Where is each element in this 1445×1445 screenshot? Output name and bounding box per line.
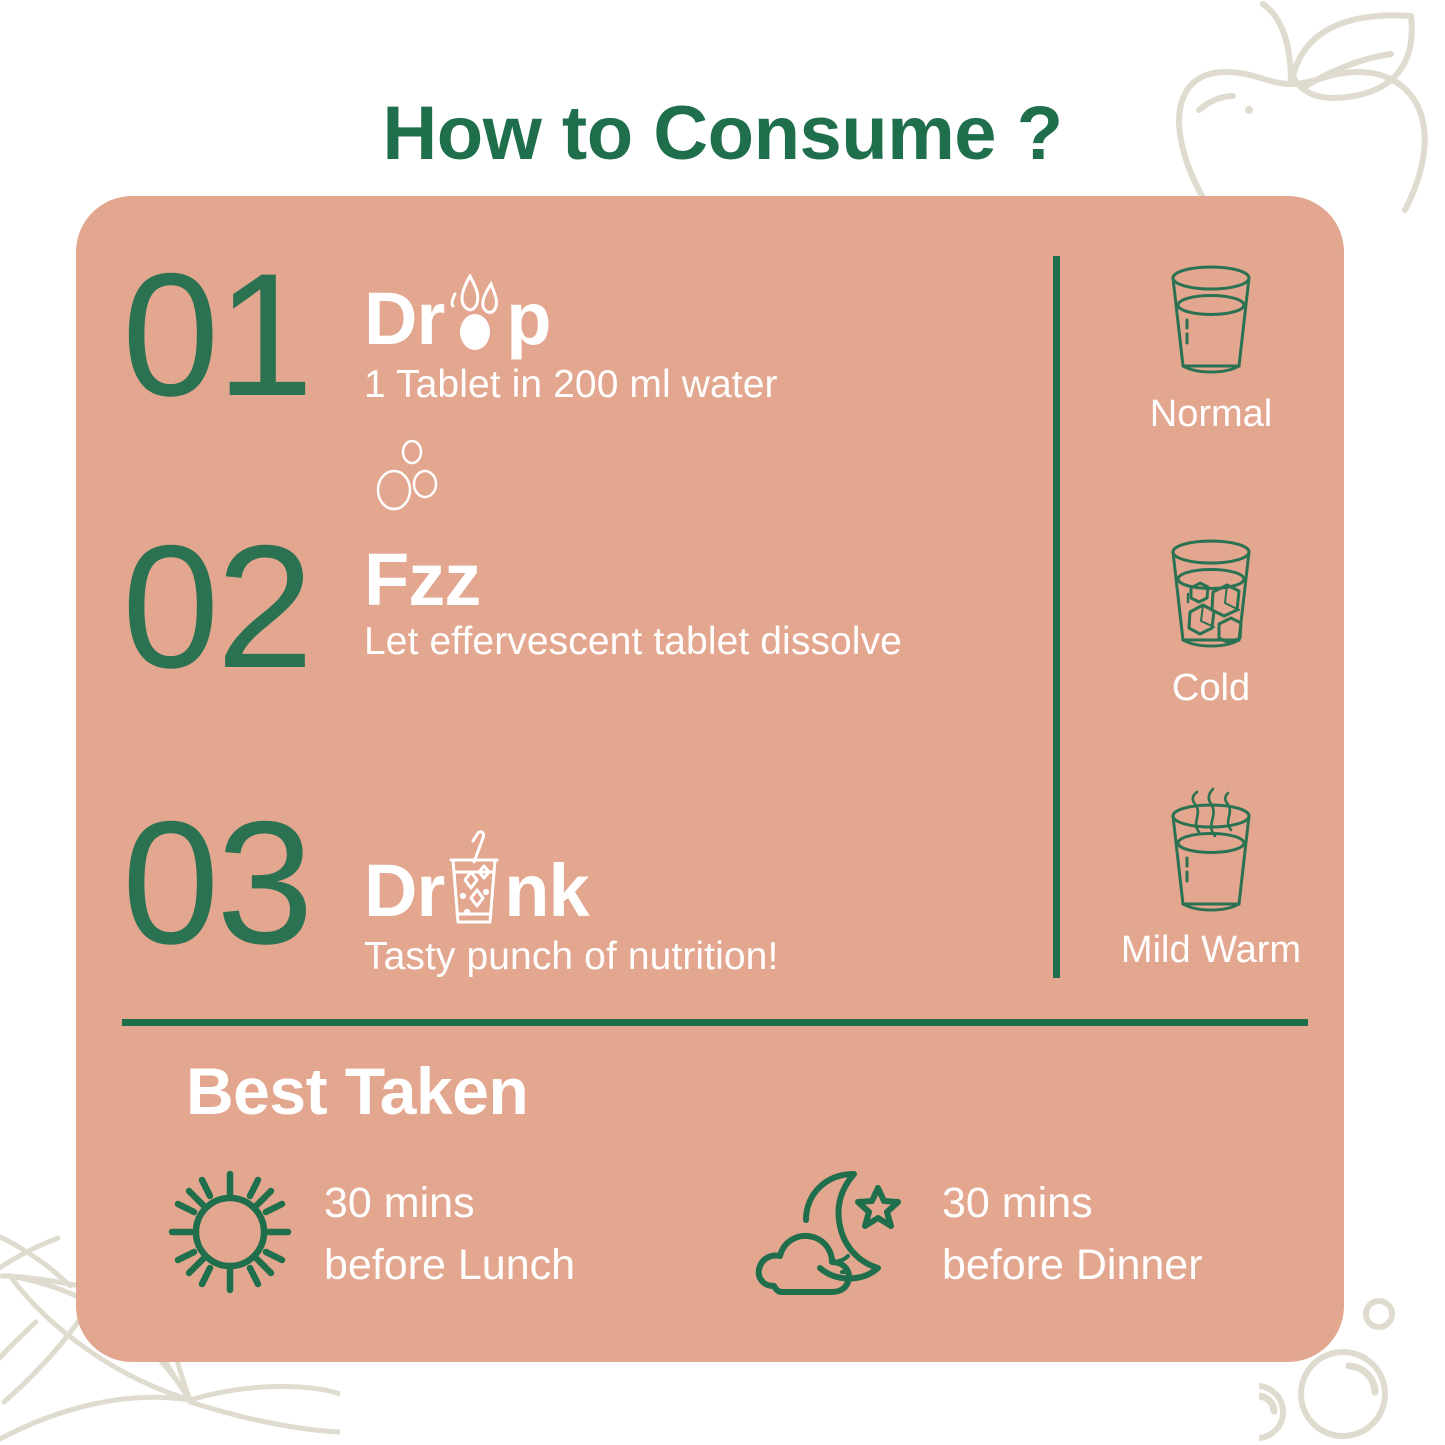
- glass-of-water-icon: [1086, 256, 1336, 382]
- timing-item-dinner: 30 mins before Dinner: [736, 1164, 1316, 1305]
- water-drop-icon: [444, 264, 506, 356]
- timing-text: 30 mins before Lunch: [324, 1173, 575, 1295]
- step-headline-before: Dr: [364, 277, 444, 360]
- step-body: Fzz Let effervescent tablet dissolve: [364, 522, 1052, 665]
- step-headline-after: p: [506, 277, 550, 360]
- temperature-item-mild-warm: Mild Warm: [1086, 792, 1336, 972]
- drink-glass-straw-icon: [444, 812, 504, 928]
- step-headline-before: F: [364, 538, 408, 621]
- glass-with-ice-icon: [1086, 530, 1336, 656]
- step-body: Drnk Tasty punch of nutrition!: [364, 798, 1052, 980]
- step-number: 02: [122, 522, 364, 694]
- step-item-fizz: 02 Fzz: [122, 522, 1052, 694]
- temperature-label: Mild Warm: [1086, 930, 1336, 972]
- temperature-label: Cold: [1086, 668, 1336, 710]
- step-number: 03: [122, 798, 364, 970]
- step-description: Tasty punch of nutrition!: [364, 934, 1052, 980]
- fizz-bubbles-icon: [372, 438, 458, 539]
- temperature-item-cold: Cold: [1086, 530, 1336, 710]
- step-item-drop: 01 Drp 1 Tablet in 200 ml water: [122, 250, 1052, 422]
- step-body: Drp 1 Tablet in 200 ml water: [364, 250, 1052, 408]
- timing-line-1: 30 mins: [324, 1173, 575, 1234]
- best-taken-list: 30 mins before Lunch: [136, 1164, 1316, 1305]
- temperature-list: Normal: [1086, 240, 1336, 1020]
- step-item-drink: 03 Drnk Tasty punch of nutrition!: [122, 798, 1052, 980]
- step-headline-drop: Drp: [364, 264, 550, 356]
- step-headline-before: Dr: [364, 849, 444, 932]
- steps-list: 01 Drp 1 Tablet in 200 ml water 02: [122, 240, 1052, 1020]
- step-number: 01: [122, 250, 364, 422]
- timing-text: 30 mins before Dinner: [942, 1173, 1203, 1295]
- moon-cloud-star-icon: [754, 1164, 914, 1305]
- section-divider: [122, 1019, 1308, 1026]
- step-headline-fizz: Fzz: [364, 542, 480, 617]
- step-description: 1 Tablet in 200 ml water: [364, 362, 1052, 408]
- page-title: How to Consume ?: [0, 96, 1445, 172]
- temperature-label: Normal: [1086, 394, 1336, 436]
- glass-with-steam-icon: [1086, 792, 1336, 918]
- timing-line-2: before Dinner: [942, 1235, 1203, 1296]
- infographic-canvas: How to Consume ? 01 Drp 1 Tablet in 200 …: [0, 0, 1445, 1445]
- step-headline-drink: Drnk: [364, 812, 589, 928]
- sun-icon: [164, 1166, 296, 1303]
- best-taken-title: Best Taken: [186, 1058, 528, 1124]
- how-to-consume-card: 01 Drp 1 Tablet in 200 ml water 02: [76, 196, 1344, 1362]
- timing-line-1: 30 mins: [942, 1173, 1203, 1234]
- timing-line-2: before Lunch: [324, 1235, 575, 1296]
- step-description: Let effervescent tablet dissolve: [364, 619, 1052, 665]
- step-headline-after: nk: [504, 849, 588, 932]
- temperature-item-normal: Normal: [1086, 256, 1336, 436]
- timing-item-lunch: 30 mins before Lunch: [136, 1164, 736, 1305]
- step-headline-after: zz: [408, 538, 480, 621]
- vertical-divider: [1053, 256, 1060, 978]
